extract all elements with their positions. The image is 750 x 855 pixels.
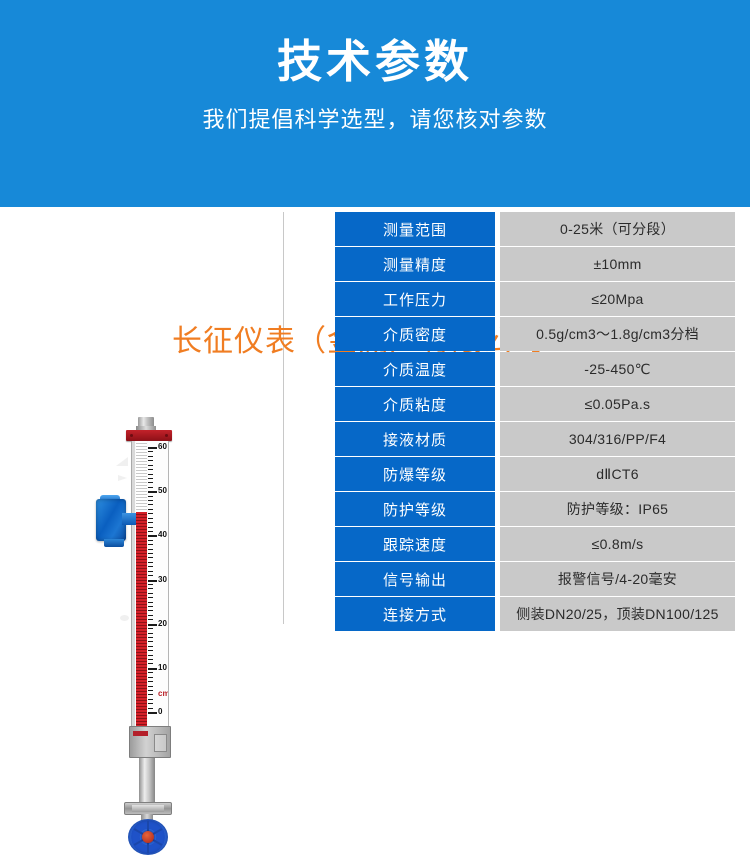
spec-value: dⅡCT6 <box>500 457 735 491</box>
spec-row: 接液材质304/316/PP/F4 <box>335 422 735 456</box>
scale-tick-minor <box>148 571 153 572</box>
scale-tick-minor <box>148 659 153 660</box>
scale-tick-minor <box>148 663 153 664</box>
spec-label: 接液材质 <box>335 422 495 456</box>
spec-value: -25-450℃ <box>500 352 735 386</box>
spec-value: 0.5g/cm3～1.8g/cm3分档 <box>500 317 735 351</box>
flag-white-segment <box>136 441 147 512</box>
scale-tick-minor <box>148 509 153 510</box>
scale-tick-minor <box>148 677 153 678</box>
photo-artifact <box>120 615 129 621</box>
photo-artifact <box>118 475 127 481</box>
spec-label: 跟踪速度 <box>335 527 495 561</box>
scale-tick-minor <box>148 496 153 497</box>
scale-number: 40 <box>158 531 167 539</box>
scale-number: 60 <box>158 443 167 451</box>
scale-tick-minor <box>148 641 153 642</box>
scale-tick-minor <box>148 513 153 514</box>
spec-value: 防护等级：IP65 <box>500 492 735 526</box>
scale-number: 0 <box>158 708 162 716</box>
scale-tick-minor <box>148 628 153 629</box>
flange-inner <box>132 805 164 812</box>
scale-tick-minor <box>148 553 153 554</box>
transmitter-foot <box>104 539 124 547</box>
flag-column <box>136 441 147 726</box>
spec-label: 测量精度 <box>335 247 495 281</box>
scale-tick-minor <box>148 469 153 470</box>
scale-tick-minor <box>148 615 153 616</box>
scale-tick-minor <box>148 584 153 585</box>
spec-value: 0-25米（可分段） <box>500 212 735 246</box>
spec-row: 测量精度±10mm <box>335 247 735 281</box>
scale-tick-minor <box>148 610 153 611</box>
junction-label <box>133 731 148 736</box>
scale-tick-minor <box>148 482 153 483</box>
scale-tick-minor <box>148 672 153 673</box>
scale-tick-minor <box>148 531 153 532</box>
spec-row: 介质温度-25-450℃ <box>335 352 735 386</box>
scale-tick-minor <box>148 690 153 691</box>
scale-body: 6050403020100cm <box>131 441 169 726</box>
scale-tick-minor <box>148 544 153 545</box>
scale-tick-minor <box>148 518 153 519</box>
page-header-banner: 技术参数 我们提倡科学选型，请您核对参数 <box>0 0 750 207</box>
scale-number: 10 <box>158 664 167 672</box>
spec-value: ±10mm <box>500 247 735 281</box>
scale-ruler: 6050403020100cm <box>148 441 169 726</box>
scale-tick-minor <box>148 619 153 620</box>
spec-value: ≤0.8m/s <box>500 527 735 561</box>
scale-tick-minor <box>148 655 153 656</box>
spec-label: 连接方式 <box>335 597 495 631</box>
scale-tick-minor <box>148 487 153 488</box>
spec-label: 介质密度 <box>335 317 495 351</box>
spec-label: 防护等级 <box>335 492 495 526</box>
spec-row: 介质密度0.5g/cm3～1.8g/cm3分档 <box>335 317 735 351</box>
scale-tick-major <box>148 668 157 670</box>
product-photo-panel: 6050403020100cm <box>0 207 283 657</box>
scale-tick-major <box>148 712 157 714</box>
scale-tick-minor <box>148 456 153 457</box>
spec-label: 工作压力 <box>335 282 495 316</box>
scale-number: 30 <box>158 576 167 584</box>
page-title: 技术参数 <box>277 36 473 88</box>
scale-tick-major <box>148 580 157 582</box>
scale-tick-minor <box>148 694 153 695</box>
spec-row: 跟踪速度≤0.8m/s <box>335 527 735 561</box>
scale-tick-minor <box>148 562 153 563</box>
spec-label: 测量范围 <box>335 212 495 246</box>
spec-row: 防爆等级dⅡCT6 <box>335 457 735 491</box>
scale-unit-label: cm <box>158 690 169 698</box>
handwheel-valve <box>128 819 168 855</box>
transmitter-arm <box>122 513 136 525</box>
handwheel-hub <box>142 831 154 843</box>
scale-tick-minor <box>148 575 153 576</box>
vertical-divider <box>283 212 284 624</box>
scale-tick-minor <box>148 474 153 475</box>
spec-row: 工作压力≤20Mpa <box>335 282 735 316</box>
magnetic-level-gauge-image: 6050403020100cm <box>112 417 184 807</box>
spec-value: ≤0.05Pa.s <box>500 387 735 421</box>
junction-box <box>129 726 171 758</box>
spec-label: 防爆等级 <box>335 457 495 491</box>
spec-label: 信号输出 <box>335 562 495 596</box>
spec-label: 介质温度 <box>335 352 495 386</box>
scale-tick-minor <box>148 681 153 682</box>
process-pipe <box>139 758 155 802</box>
scale-tick-minor <box>148 460 153 461</box>
spec-value: 304/316/PP/F4 <box>500 422 735 456</box>
scale-tick-minor <box>148 527 153 528</box>
spec-row: 防护等级防护等级：IP65 <box>335 492 735 526</box>
scale-tick-major <box>148 447 157 449</box>
spec-label: 介质粘度 <box>335 387 495 421</box>
scale-tick-minor <box>148 566 153 567</box>
scale-tick-minor <box>148 549 153 550</box>
scale-tick-major <box>148 491 157 493</box>
transmitter-head <box>96 495 132 547</box>
scale-tick-minor <box>148 465 153 466</box>
scale-tick-minor <box>148 557 153 558</box>
scale-tick-minor <box>148 602 153 603</box>
scale-number: 50 <box>158 487 167 495</box>
scale-tick-minor <box>148 637 153 638</box>
scale-tick-minor <box>148 646 153 647</box>
scale-tick-minor <box>148 522 153 523</box>
page-subtitle: 我们提倡科学选型，请您核对参数 <box>202 102 547 134</box>
photo-artifact <box>116 457 128 466</box>
scale-tick-minor <box>148 699 153 700</box>
spec-value: 侧装DN20/25，顶装DN100/125 <box>500 597 735 631</box>
scale-tick-minor <box>148 606 153 607</box>
flag-red-segment <box>136 512 147 726</box>
spec-row: 信号输出报警信号/4-20毫安 <box>335 562 735 596</box>
specification-table: 测量范围0-25米（可分段）测量精度±10mm工作压力≤20Mpa介质密度0.5… <box>335 212 735 632</box>
spec-row: 连接方式侧装DN20/25，顶装DN100/125 <box>335 597 735 631</box>
scale-tick-minor <box>148 708 153 709</box>
scale-tick-minor <box>148 703 153 704</box>
scale-tick-major <box>148 535 157 537</box>
scale-number: 20 <box>158 620 167 628</box>
scale-tick-major <box>148 624 157 626</box>
scale-tick-minor <box>148 650 153 651</box>
scale-tick-minor <box>148 451 153 452</box>
scale-tick-minor <box>148 500 153 501</box>
spec-row: 介质粘度≤0.05Pa.s <box>335 387 735 421</box>
scale-tick-minor <box>148 540 153 541</box>
spec-value: 报警信号/4-20毫安 <box>500 562 735 596</box>
scale-tick-minor <box>148 504 153 505</box>
spec-value: ≤20Mpa <box>500 282 735 316</box>
scale-tick-minor <box>148 633 153 634</box>
spec-row: 测量范围0-25米（可分段） <box>335 212 735 246</box>
scale-tick-minor <box>148 686 153 687</box>
junction-plate <box>154 734 167 752</box>
scale-tick-minor <box>148 588 153 589</box>
scale-tick-minor <box>148 478 153 479</box>
top-bracket <box>126 430 172 441</box>
scale-tick-minor <box>148 597 153 598</box>
scale-tick-minor <box>148 593 153 594</box>
